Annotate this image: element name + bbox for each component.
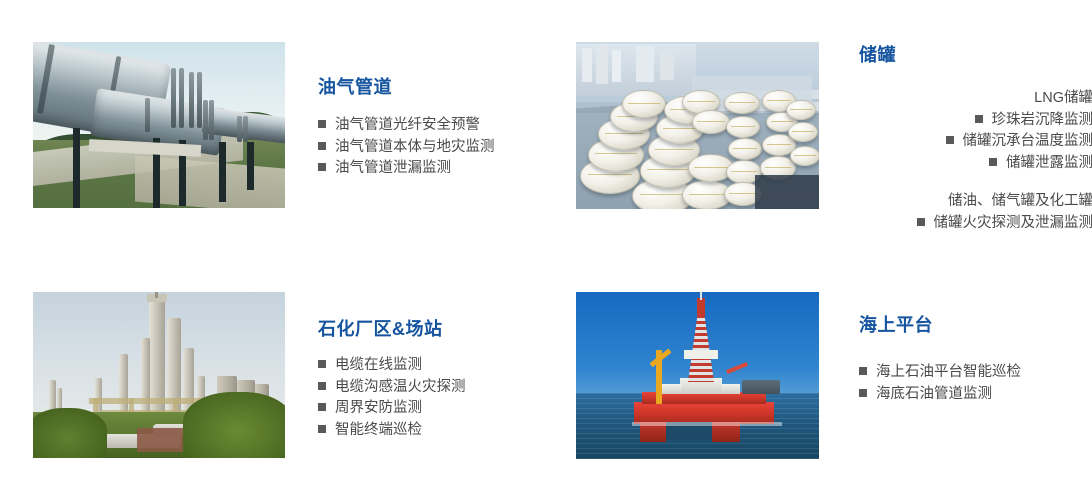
square-bullet-icon [946, 136, 954, 144]
list-item-label: 电缆在线监测 [335, 357, 422, 373]
list-item: 油气管道光纤安全预警 [318, 115, 495, 137]
square-bullet-icon [318, 142, 326, 150]
panel-petrochemical-plant: 石化厂区&场站 电缆在线监测 电缆沟感温火灾探测 周界安防监测 智能终端巡检 [33, 292, 466, 458]
list-item: 电缆沟感温火灾探测 [318, 377, 466, 399]
list-item-label: 油气管道泄漏监测 [335, 160, 451, 176]
list-item: 储罐火灾探测及泄漏监测 [859, 213, 1092, 235]
list-item: 油气管道本体与地灾监测 [318, 137, 495, 159]
list-item-label: 储罐火灾探测及泄漏监测 [934, 215, 1092, 231]
list-item: 海底石油管道监测 [859, 384, 1021, 406]
feature-list-lng: 珍珠岩沉降监测 储罐沉承台温度监测 储罐泄露监测 [859, 110, 1092, 175]
panel-offshore-platform: 海上平台 海上石油平台智能巡检 海底石油管道监测 [576, 292, 1021, 459]
square-bullet-icon [318, 425, 326, 433]
list-item: 智能终端巡检 [318, 420, 466, 442]
group-label-lng: LNG储罐 [859, 88, 1092, 110]
list-item-label: 珍珠岩沉降监测 [992, 112, 1092, 128]
square-bullet-icon [989, 158, 997, 166]
square-bullet-icon [318, 120, 326, 128]
square-bullet-icon [975, 115, 983, 123]
list-item: 海上石油平台智能巡检 [859, 362, 1021, 384]
list-item: 电缆在线监测 [318, 355, 466, 377]
list-item-label: 电缆沟感温火灾探测 [335, 379, 466, 395]
panel-oil-gas-pipeline: 油气管道 油气管道光纤安全预警 油气管道本体与地灾监测 油气管道泄漏监测 [33, 42, 495, 208]
petrochemical-plant-text: 石化厂区&场站 电缆在线监测 电缆沟感温火灾探测 周界安防监测 智能终端巡检 [285, 292, 466, 458]
panel-heading: 油气管道 [318, 76, 495, 98]
feature-list-oil-gas-chemical: 储罐火灾探测及泄漏监测 [859, 213, 1092, 235]
panel-storage-tank: 储罐 LNG储罐 珍珠岩沉降监测 储罐沉承台温度监测 储罐泄露监测 储油、储气罐… [576, 42, 1092, 234]
list-item: 油气管道泄漏监测 [318, 158, 495, 180]
group-label-oil-gas-chemical: 储油、储气罐及化工罐 [859, 191, 1092, 213]
list-item: 储罐泄露监测 [859, 153, 1092, 175]
list-item-label: 周界安防监测 [335, 400, 422, 416]
list-item-label: 油气管道本体与地灾监测 [335, 139, 495, 155]
feature-list: 海上石油平台智能巡检 海底石油管道监测 [859, 362, 1021, 405]
oil-gas-pipeline-text: 油气管道 油气管道光纤安全预警 油气管道本体与地灾监测 油气管道泄漏监测 [285, 42, 495, 208]
list-item: 储罐沉承台温度监测 [859, 131, 1092, 153]
square-bullet-icon [318, 382, 326, 390]
panel-heading: 储罐 [859, 45, 896, 65]
petrochemical-plant-photo [33, 292, 285, 458]
feature-list: 电缆在线监测 电缆沟感温火灾探测 周界安防监测 智能终端巡检 [318, 355, 466, 441]
list-item-label: 智能终端巡检 [335, 422, 422, 438]
square-bullet-icon [859, 367, 867, 375]
offshore-platform-text: 海上平台 海上石油平台智能巡检 海底石油管道监测 [819, 292, 1021, 459]
square-bullet-icon [318, 403, 326, 411]
list-item: 周界安防监测 [318, 398, 466, 420]
list-item-label: 油气管道光纤安全预警 [335, 117, 480, 133]
list-item-label: 储罐泄露监测 [1006, 155, 1092, 171]
list-item: 珍珠岩沉降监测 [859, 110, 1092, 132]
oil-gas-pipeline-photo [33, 42, 285, 208]
offshore-oil-platform-photo [576, 292, 819, 459]
list-item-label: 海底石油管道监测 [876, 386, 992, 402]
square-bullet-icon [318, 163, 326, 171]
panel-heading: 石化厂区&场站 [318, 318, 466, 340]
panel-heading: 海上平台 [859, 314, 1021, 336]
storage-tank-farm-photo [576, 42, 819, 209]
square-bullet-icon [859, 389, 867, 397]
storage-tank-text: 储罐 LNG储罐 珍珠岩沉降监测 储罐沉承台温度监测 储罐泄露监测 储油、储气罐… [819, 42, 1092, 234]
list-item-label: 储罐沉承台温度监测 [963, 133, 1092, 149]
square-bullet-icon [318, 360, 326, 368]
list-item-label: 海上石油平台智能巡检 [876, 364, 1021, 380]
feature-list: 油气管道光纤安全预警 油气管道本体与地灾监测 油气管道泄漏监测 [318, 115, 495, 180]
square-bullet-icon [917, 218, 925, 226]
